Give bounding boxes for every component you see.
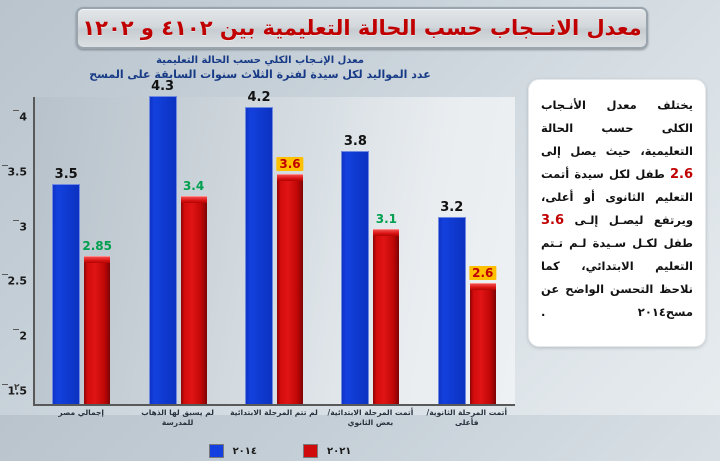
slide-title-bar: معدل الانــجاب حسب الحالة التعليمية بين … xyxy=(76,7,648,49)
legend-label-2014: ٢٠١٤ xyxy=(233,446,257,457)
commentary-panel: يختلف معدل الأنـجاب الكلى حسب الحالة الت… xyxy=(528,79,706,347)
slide-number: ٢٠ xyxy=(14,383,25,393)
commentary-value-2-6: 2.6 xyxy=(670,167,693,182)
x-axis-labels: إجمالي مصرلم يسبق لها الذهاب للمدرسةلم ت… xyxy=(33,408,515,442)
legend-item-2021[interactable]: ٢٠٢١ xyxy=(303,444,351,458)
commentary-value-3-6: 3.6 xyxy=(541,213,564,228)
x-category-label: أتمت المرحلة الثانوية/فأعلى xyxy=(419,408,515,428)
y-tick-label: 4 xyxy=(19,110,27,123)
x-category-label: لم تتم المرحلة الابتدائية xyxy=(226,408,322,418)
x-axis-line xyxy=(33,404,515,406)
y-axis-ticks: 1.522.533.54 xyxy=(33,97,515,404)
chart-legend: ٢٠١٤ ٢٠٢١ xyxy=(150,441,410,461)
chart-container: معدل الإنـجاب الكلي حسب الحالة التعليمية… xyxy=(0,52,520,397)
y-tick-label: 3.5 xyxy=(8,165,28,178)
chart-title: معدل الإنـجاب الكلي حسب الحالة التعليمية xyxy=(0,54,520,68)
y-tick-mark xyxy=(13,329,19,330)
slide-root: معدل الانــجاب حسب الحالة التعليمية بين … xyxy=(0,0,720,415)
x-category-label: إجمالي مصر xyxy=(33,408,129,418)
page-title: معدل الانــجاب حسب الحالة التعليمية بين … xyxy=(82,16,641,40)
x-category-label: أتمت المرحلة الابتدائية/بعض الثانوي xyxy=(322,408,418,428)
y-tick-mark xyxy=(13,110,19,111)
chart-subtitle: عدد المواليد لكل سيدة لفترة الثلاث سنوات… xyxy=(0,68,520,82)
legend-swatch-2014 xyxy=(209,444,224,458)
legend-item-2014[interactable]: ٢٠١٤ xyxy=(209,444,257,458)
y-tick-label: 2.5 xyxy=(8,275,28,288)
commentary-part-1: يختلف معدل الأنـجاب الكلى حسب الحالة الت… xyxy=(541,98,693,158)
chart-title-block: معدل الإنـجاب الكلي حسب الحالة التعليمية… xyxy=(0,54,520,82)
y-tick-mark xyxy=(2,274,8,275)
y-tick-mark xyxy=(2,165,8,166)
bar-value-label: 4.3 xyxy=(151,79,174,94)
y-tick-label: 3 xyxy=(19,220,27,233)
legend-label-2021: ٢٠٢١ xyxy=(327,446,351,457)
y-tick-mark xyxy=(2,384,8,385)
commentary-part-3: طفل لكـل سـيدة لـم تـتم التعليم الابتدائ… xyxy=(541,236,693,319)
x-category-label: لم يسبق لها الذهاب للمدرسة xyxy=(129,408,225,428)
y-tick-mark xyxy=(13,220,19,221)
y-tick-label: 2 xyxy=(19,330,27,343)
legend-swatch-2021 xyxy=(303,444,318,458)
